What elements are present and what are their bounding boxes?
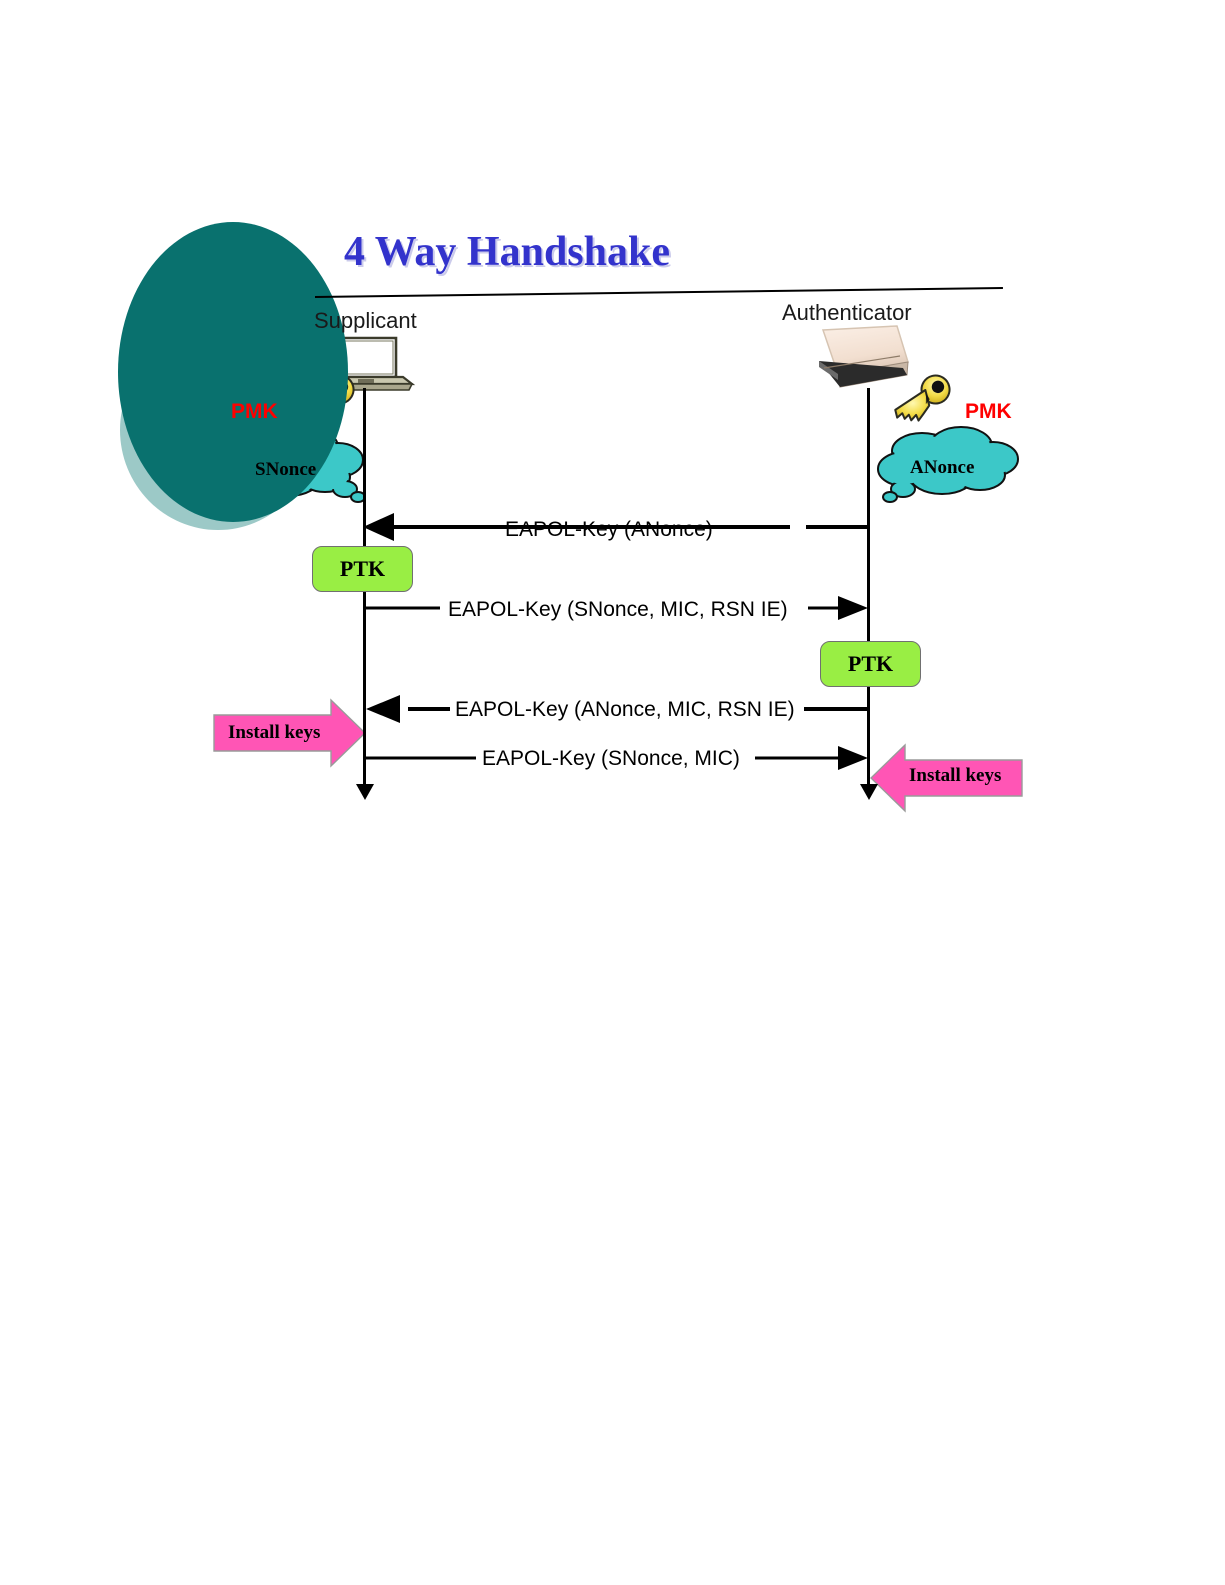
message-label-4: EAPOL-Key (SNonce, MIC) xyxy=(482,747,740,771)
install-keys-label-right: Install keys xyxy=(909,765,1001,787)
ptk-box-authenticator: PTK xyxy=(820,641,921,687)
page-title: 4 Way Handshake xyxy=(344,228,670,276)
access-point-icon xyxy=(819,326,908,387)
key-icon xyxy=(889,373,955,426)
message-label-3: EAPOL-Key (ANonce, MIC, RSN IE) xyxy=(455,698,795,722)
message-label-1: EAPOL-Key (ANonce) xyxy=(505,518,713,542)
lifeline-authenticator xyxy=(867,388,870,788)
pmk-label-authenticator: PMK xyxy=(965,400,1012,424)
actor-label-supplicant: Supplicant xyxy=(314,308,417,334)
actor-label-authenticator: Authenticator xyxy=(782,300,912,326)
nonce-label-snonce: SNonce xyxy=(255,459,316,481)
nonce-label-anonce: ANonce xyxy=(910,457,974,479)
lifeline-end-arrow-right xyxy=(860,784,878,800)
ptk-box-supplicant: PTK xyxy=(312,546,413,592)
pmk-label-supplicant: PMK xyxy=(231,400,278,424)
lifeline-end-arrow-left xyxy=(356,784,374,800)
install-keys-label-left: Install keys xyxy=(228,722,320,744)
message-label-2: EAPOL-Key (SNonce, MIC, RSN IE) xyxy=(448,598,788,622)
